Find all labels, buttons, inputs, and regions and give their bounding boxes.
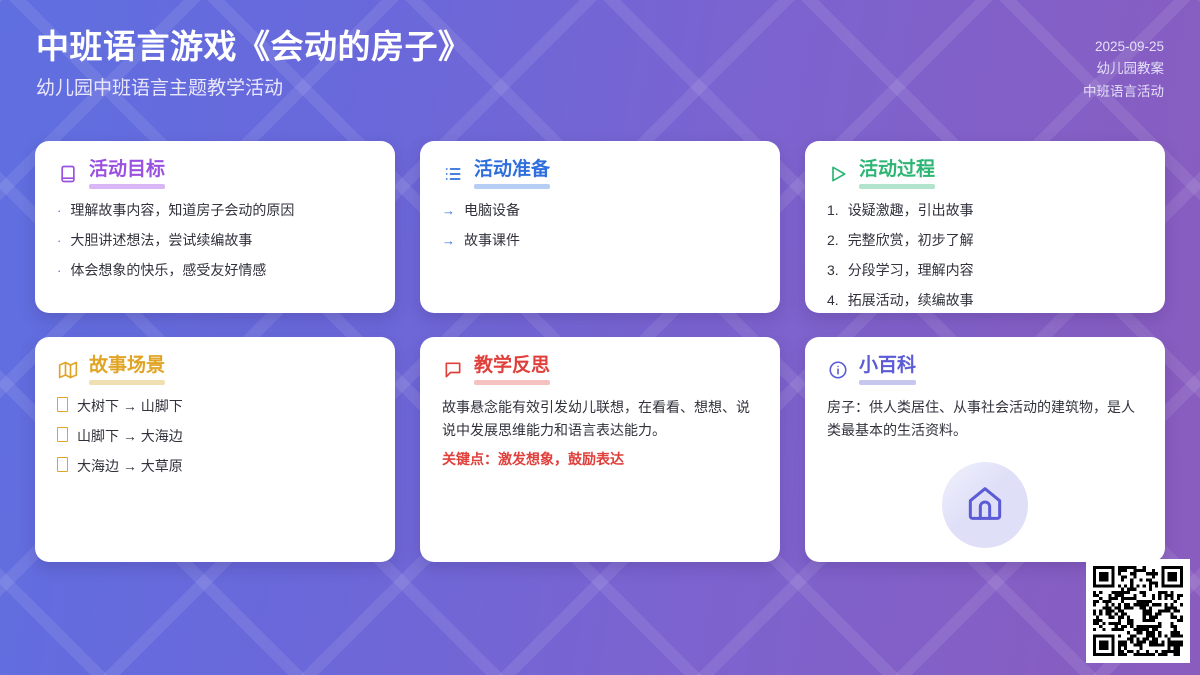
meta-category: 幼儿园教案 (1083, 58, 1164, 80)
arrow-marker: → (442, 201, 455, 221)
list-item-label: 理解故事内容，知道房子会动的原因 (70, 200, 294, 221)
list-item-label: 大胆讲述想法，尝试续编故事 (70, 230, 252, 251)
card-header: 活动目标 (57, 159, 373, 189)
header-text-block: 中班语言游戏《会动的房子》 幼儿园中班语言主题教学活动 (36, 26, 472, 102)
list-item: 4. 拓展活动，续编故事 (827, 290, 1143, 311)
list-item: 大树下 → 山脚下 (57, 396, 373, 417)
card-title-wrap: 教学反思 (474, 355, 550, 385)
slide-header: 中班语言游戏《会动的房子》 幼儿园中班语言主题教学活动 2025-09-25 幼… (0, 0, 1200, 130)
card-title: 活动准备 (474, 159, 550, 180)
list-item: · 理解故事内容，知道房子会动的原因 (57, 200, 373, 221)
list-item: 3. 分段学习，理解内容 (827, 260, 1143, 281)
item-number: 4. (827, 290, 839, 311)
card-title-wrap: 小百科 (859, 355, 916, 385)
encyclopedia-paragraph: 房子：供人类居住、从事社会活动的建筑物，是人类最基本的生活资料。 (827, 396, 1143, 441)
list-item-label: 山脚下 → 大海边 (77, 426, 183, 447)
item-number: 2. (827, 230, 839, 251)
house-badge (942, 462, 1028, 548)
reflection-key-point: 关键点：激发想象，鼓励表达 (442, 449, 758, 471)
reflection-paragraph: 故事悬念能有效引发幼儿联想，在看看、想想、说说中发展思维能力和语言表达能力。 (442, 396, 758, 441)
header-meta: 2025-09-25 幼儿园教案 中班语言活动 (1083, 26, 1164, 103)
list-item: 山脚下 → 大海边 (57, 426, 373, 447)
card-activity-goals[interactable]: 活动目标 · 理解故事内容，知道房子会动的原因 · 大胆讲述想法，尝试续编故事 … (35, 141, 395, 313)
list-item-label: 体会想象的快乐，感受友好情感 (70, 260, 266, 281)
meta-date: 2025-09-25 (1083, 36, 1164, 58)
list-item-label: 分段学习，理解内容 (848, 260, 974, 281)
item-number: 1. (827, 200, 839, 221)
page-title: 中班语言游戏《会动的房子》 (36, 26, 472, 67)
title-underline (859, 184, 935, 189)
goal-list: · 理解故事内容，知道房子会动的原因 · 大胆讲述想法，尝试续编故事 · 体会想… (57, 200, 373, 281)
card-body: · 理解故事内容，知道房子会动的原因 · 大胆讲述想法，尝试续编故事 · 体会想… (57, 200, 373, 281)
list-item-label: 故事课件 (464, 230, 520, 251)
list-item-label: 完整欣赏，初步了解 (848, 230, 974, 251)
play-icon (827, 163, 848, 184)
card-body: → 电脑设备 → 故事课件 (442, 200, 758, 251)
card-encyclopedia[interactable]: 小百科 房子：供人类居住、从事社会活动的建筑物，是人类最基本的生活资料。 (805, 337, 1165, 562)
card-title-wrap: 故事场景 (89, 355, 165, 385)
list-item-label: 大树下 → 山脚下 (77, 396, 183, 417)
bullet-marker: · (57, 261, 61, 281)
house-icon (965, 483, 1005, 528)
list-item-label: 大海边 → 大草原 (77, 456, 183, 477)
arrow-marker: → (442, 231, 455, 251)
list-item: · 体会想象的快乐，感受友好情感 (57, 260, 373, 281)
card-title-wrap: 活动过程 (859, 159, 935, 189)
card-activity-process[interactable]: 活动过程 1. 设疑激趣，引出故事 2. 完整欣赏，初步了解 3. (805, 141, 1165, 313)
qr-code[interactable] (1086, 559, 1190, 663)
list-item: · 大胆讲述想法，尝试续编故事 (57, 230, 373, 251)
tofu-marker (57, 396, 68, 417)
card-story-scenes[interactable]: 故事场景 大树下 → 山脚下 山脚下 → 大海边 大海 (35, 337, 395, 562)
card-header: 小百科 (827, 355, 1143, 385)
title-underline (474, 380, 550, 385)
title-underline (89, 184, 165, 189)
info-icon (827, 359, 848, 380)
card-body: 房子：供人类居住、从事社会活动的建筑物，是人类最基本的生活资料。 (827, 396, 1143, 441)
list-item: → 电脑设备 (442, 200, 758, 221)
list-item-label: 电脑设备 (464, 200, 520, 221)
book-icon (57, 163, 78, 184)
slide-root: 中班语言游戏《会动的房子》 幼儿园中班语言主题教学活动 2025-09-25 幼… (0, 0, 1200, 675)
list-item-label: 拓展活动，续编故事 (848, 290, 974, 311)
map-icon (57, 359, 78, 380)
card-header: 故事场景 (57, 355, 373, 385)
card-header: 教学反思 (442, 355, 758, 385)
title-underline (474, 184, 550, 189)
preparation-list: → 电脑设备 → 故事课件 (442, 200, 758, 251)
title-underline (89, 380, 165, 385)
list-item: 1. 设疑激趣，引出故事 (827, 200, 1143, 221)
card-title: 小百科 (859, 355, 916, 376)
card-body: 大树下 → 山脚下 山脚下 → 大海边 大海边 → 大草原 (57, 396, 373, 477)
process-list: 1. 设疑激趣，引出故事 2. 完整欣赏，初步了解 3. 分段学习，理解内容 4… (827, 200, 1143, 311)
title-underline (859, 380, 916, 385)
page-subtitle: 幼儿园中班语言主题教学活动 (36, 77, 472, 102)
list-icon (442, 163, 463, 184)
card-header: 活动准备 (442, 159, 758, 189)
meta-topic: 中班语言活动 (1083, 81, 1164, 103)
tofu-marker (57, 426, 68, 447)
list-item: → 故事课件 (442, 230, 758, 251)
card-activity-preparation[interactable]: 活动准备 → 电脑设备 → 故事课件 (420, 141, 780, 313)
card-title: 活动目标 (89, 159, 165, 180)
list-item-label: 设疑激趣，引出故事 (848, 200, 974, 221)
card-title-wrap: 活动准备 (474, 159, 550, 189)
card-title-wrap: 活动目标 (89, 159, 165, 189)
qr-code-canvas (1093, 566, 1183, 656)
list-item: 大海边 → 大草原 (57, 456, 373, 477)
card-header: 活动过程 (827, 159, 1143, 189)
card-body: 故事悬念能有效引发幼儿联想，在看看、想想、说说中发展思维能力和语言表达能力。 关… (442, 396, 758, 471)
speech-bubble-icon (442, 359, 463, 380)
bullet-marker: · (57, 201, 61, 221)
card-teaching-reflection[interactable]: 教学反思 故事悬念能有效引发幼儿联想，在看看、想想、说说中发展思维能力和语言表达… (420, 337, 780, 562)
list-item: 2. 完整欣赏，初步了解 (827, 230, 1143, 251)
card-title: 教学反思 (474, 355, 550, 376)
bullet-marker: · (57, 231, 61, 251)
card-title: 活动过程 (859, 159, 935, 180)
tofu-marker (57, 456, 68, 477)
card-grid: 活动目标 · 理解故事内容，知道房子会动的原因 · 大胆讲述想法，尝试续编故事 … (35, 141, 1165, 562)
item-number: 3. (827, 260, 839, 281)
card-title: 故事场景 (89, 355, 165, 376)
card-body: 1. 设疑激趣，引出故事 2. 完整欣赏，初步了解 3. 分段学习，理解内容 4… (827, 200, 1143, 311)
scene-list: 大树下 → 山脚下 山脚下 → 大海边 大海边 → 大草原 (57, 396, 373, 477)
